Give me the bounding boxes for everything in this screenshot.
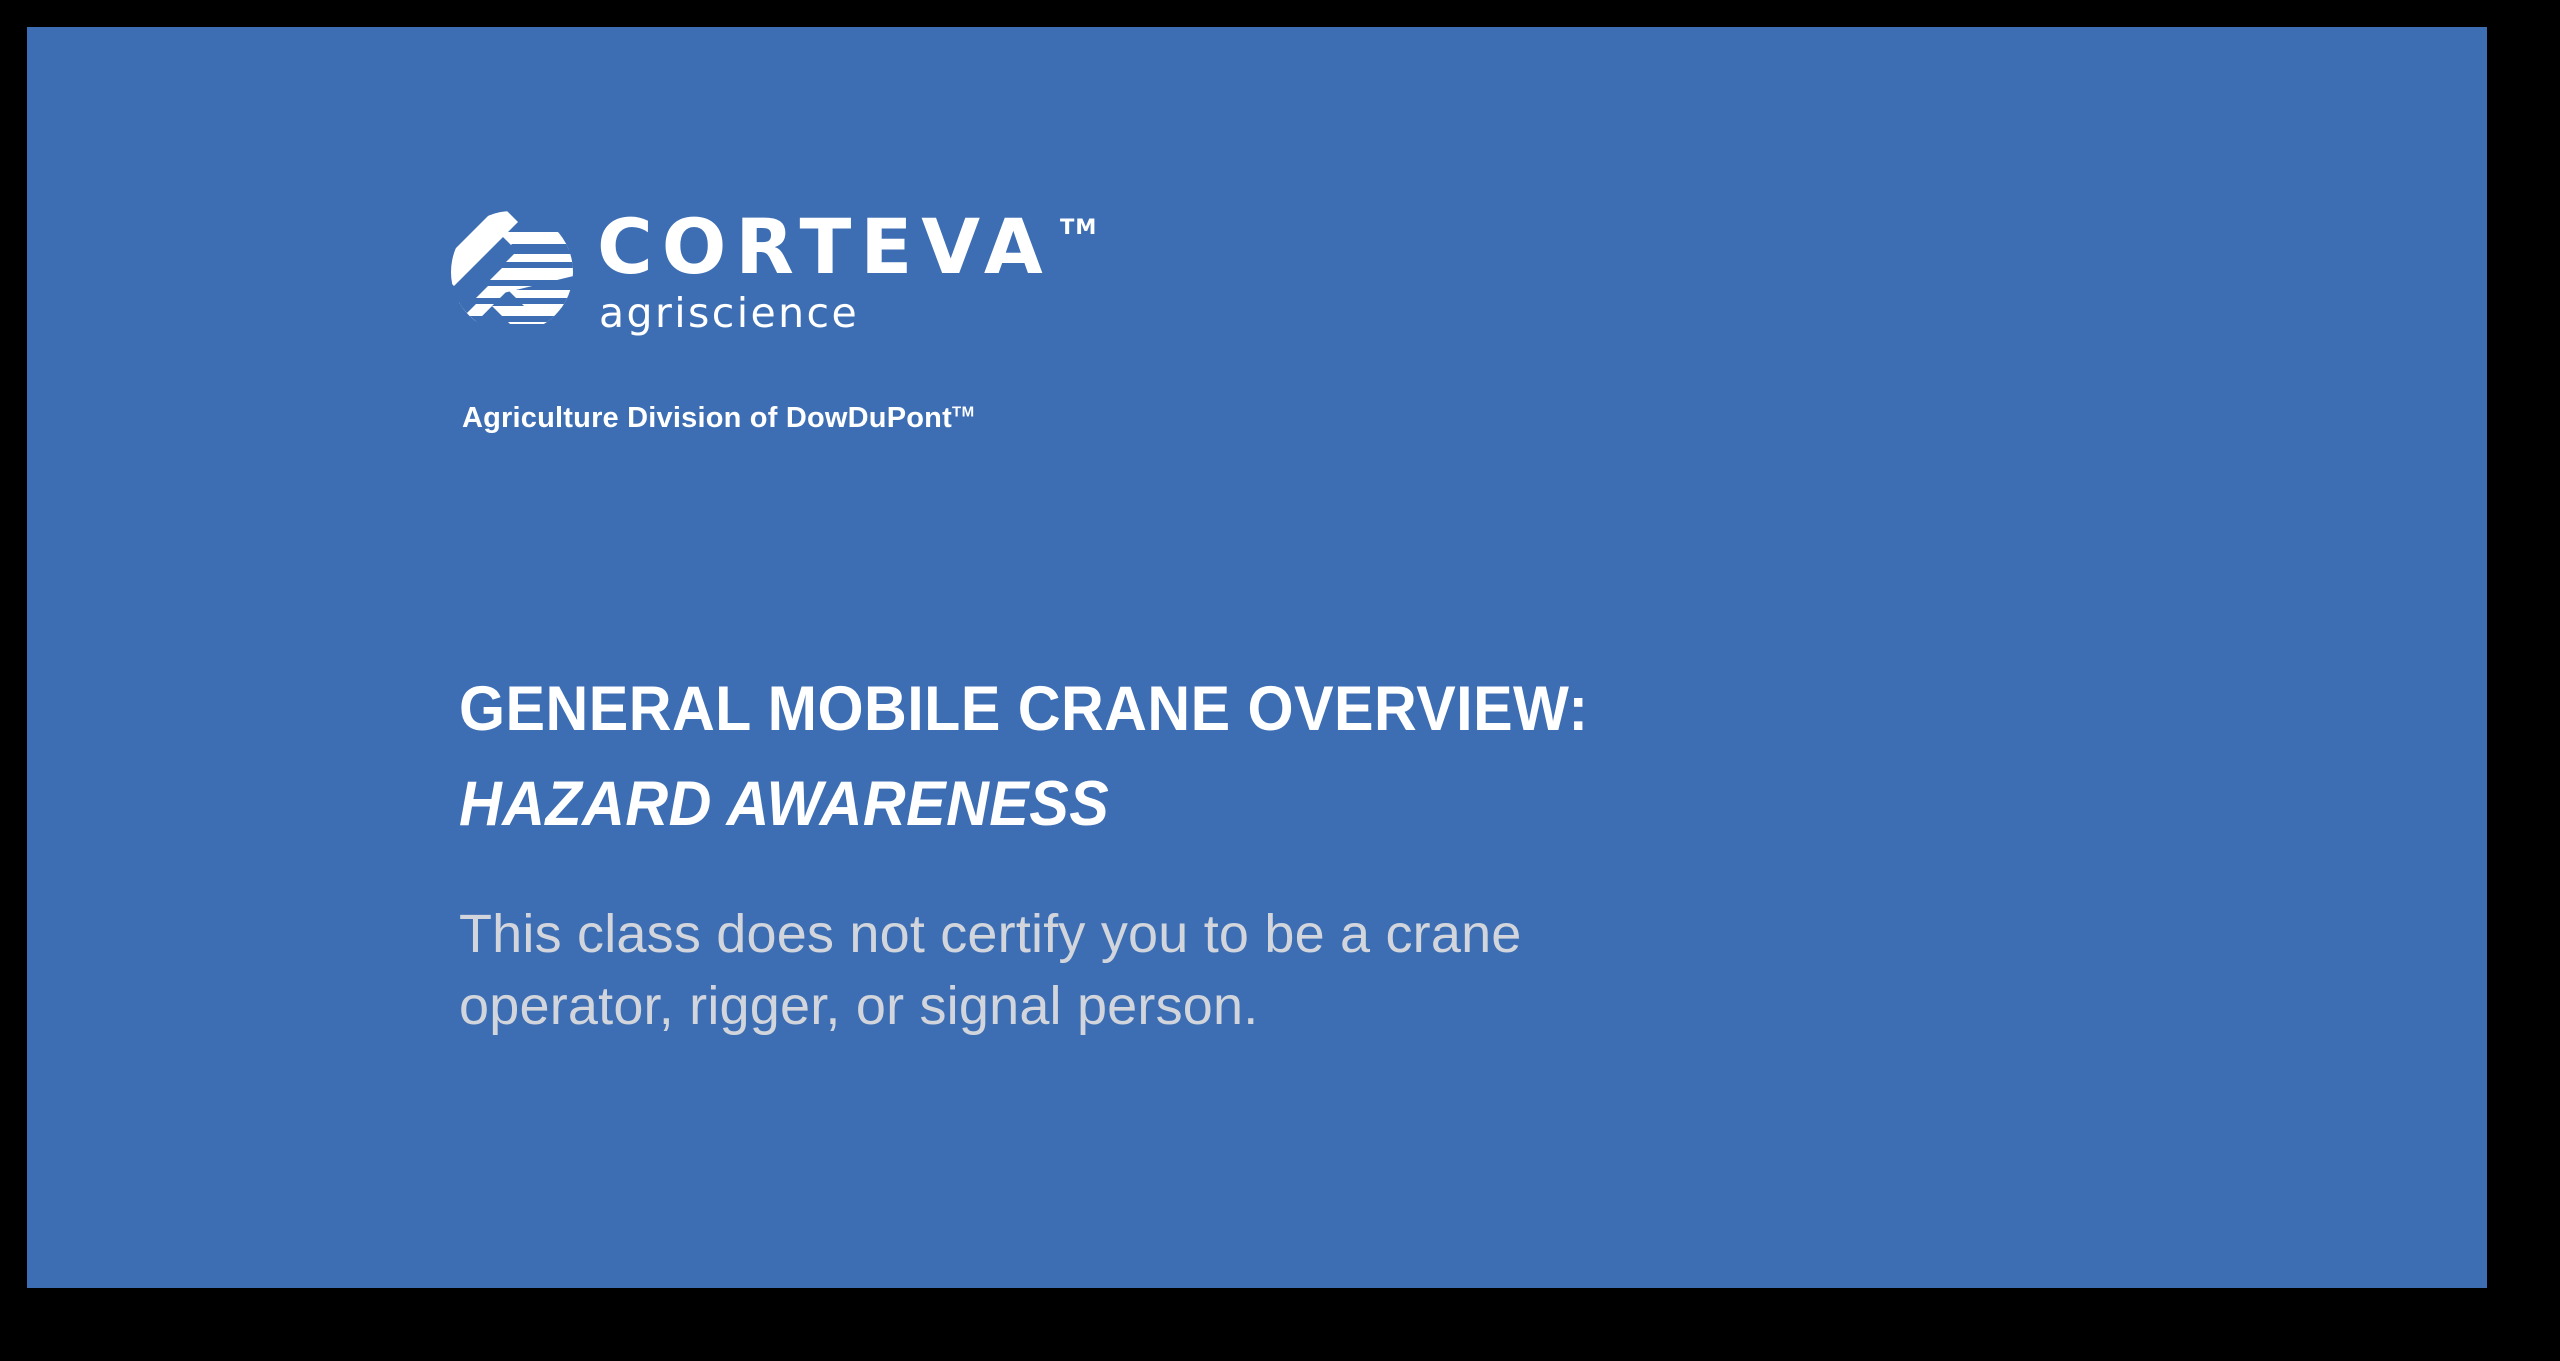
subtitle-line-2: operator, rigger, or signal person.: [459, 971, 1959, 1043]
agriscience-tagline-text: agriscience: [599, 293, 859, 334]
division-trademark-symbol: TM: [952, 403, 975, 420]
headline-line-1: GENERAL MOBILE CRANE OVERVIEW:: [459, 678, 2151, 741]
subtitle: This class does not certify you to be a …: [459, 899, 1959, 1043]
corteva-logo-lockup: CORTEVA TM agriscience: [425, 207, 1625, 342]
division-tagline-text: Agriculture Division of DowDuPont: [462, 402, 952, 434]
corteva-wordmark: CORTEVA TM agriscience: [597, 207, 1117, 337]
headline-line-2: HAZARD AWARENESS: [459, 773, 2151, 836]
division-tagline: Agriculture Division of DowDuPontTM: [462, 402, 975, 435]
corteva-circle-arrow-mark: [450, 210, 574, 334]
subtitle-line-1: This class does not certify you to be a …: [459, 899, 1959, 971]
corteva-brand-text: CORTEVA: [597, 209, 1052, 285]
presentation-stage: CORTEVA TM agriscience Agriculture Divis…: [0, 0, 2560, 1361]
corteva-trademark-symbol: TM: [1060, 215, 1097, 239]
brand-logo-block: CORTEVA TM agriscience: [425, 207, 1625, 342]
title-slide: CORTEVA TM agriscience Agriculture Divis…: [27, 27, 2487, 1288]
page-title: GENERAL MOBILE CRANE OVERVIEW: HAZARD AW…: [459, 678, 2259, 836]
